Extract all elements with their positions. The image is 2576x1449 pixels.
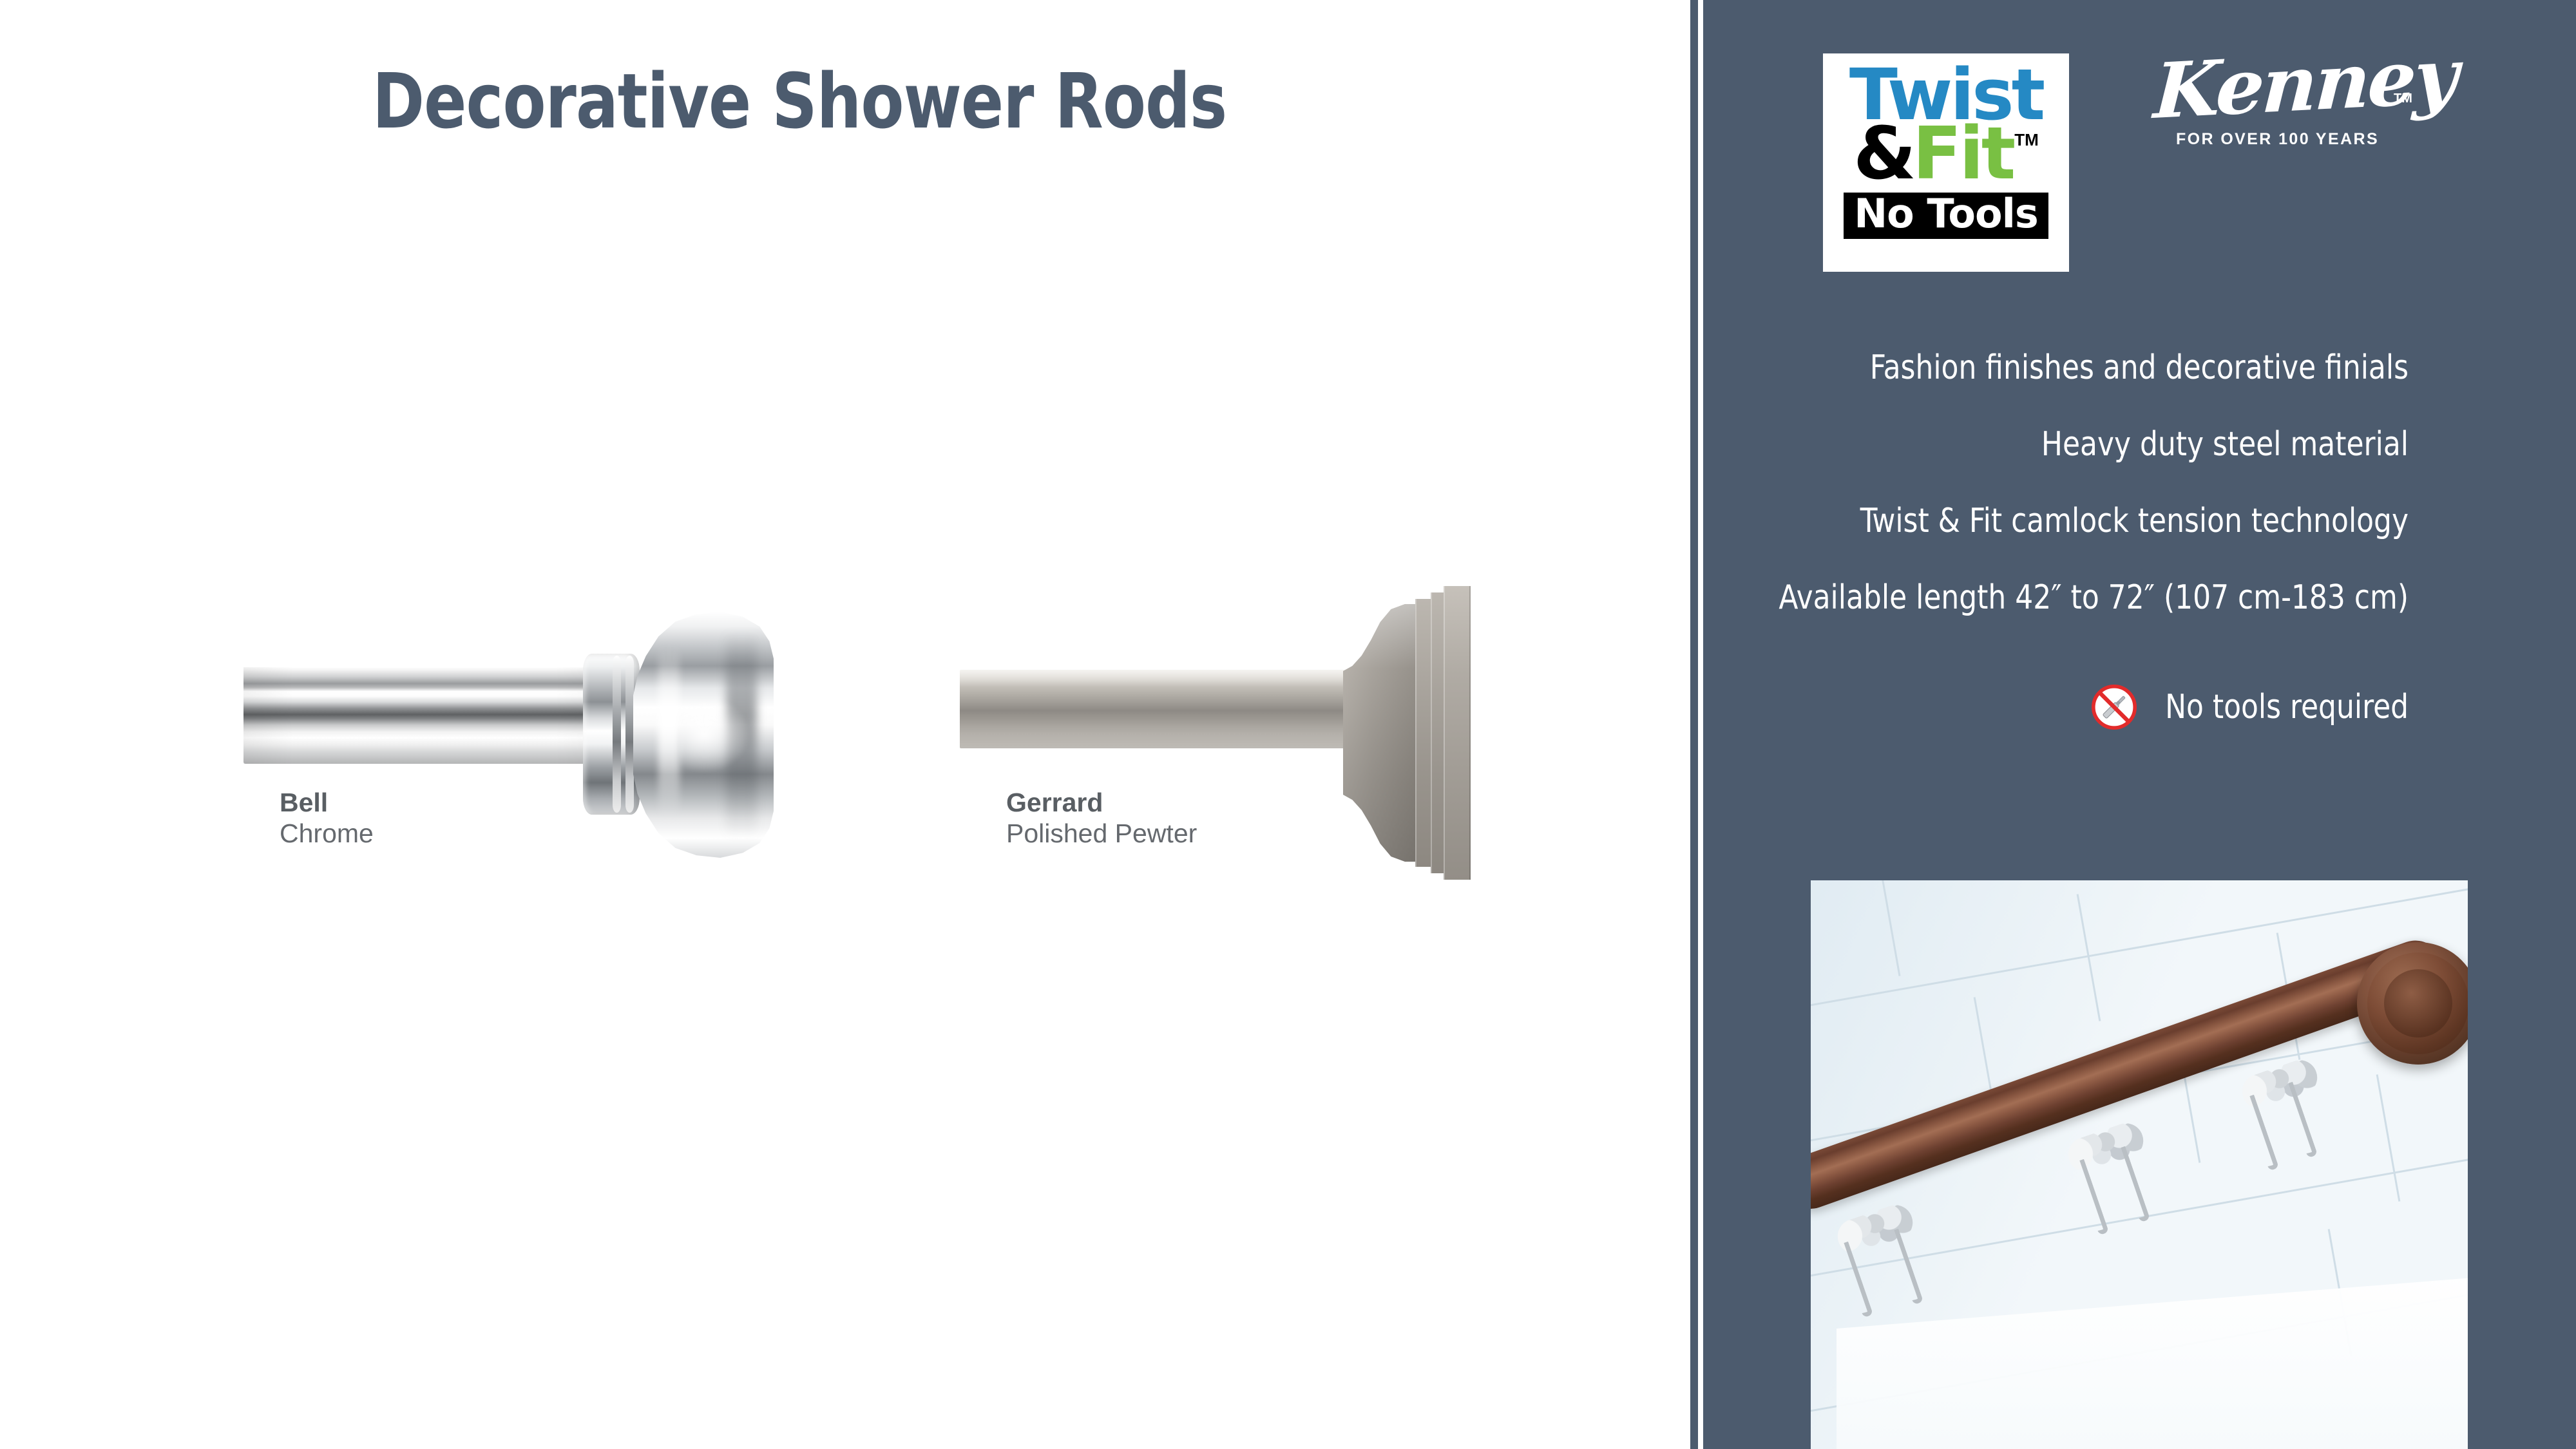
feature-item: Fashion finishes and decorative finials [1746,351,2409,384]
tile-grout-line [2376,1074,2401,1201]
twist-and-fit-logo: Twist & Fit TM No Tools [1823,53,2069,272]
gerrard-finial-icon [1343,604,1485,862]
vertical-divider-line [1690,0,1698,1449]
gerrard-rod-tube [960,670,1366,748]
kenney-tagline: FOR OVER 100 YEARS [2176,130,2379,149]
gerrard-finial-plate-2 [1431,592,1445,873]
fit-word: Fit [1913,121,2013,187]
bell-finial-icon [583,605,776,863]
tile-grout-line [1878,880,1901,976]
gerrard-label-group: Gerrard Polished Pewter [1006,787,1197,849]
bell-finial-highlight [680,702,750,773]
no-tools-badge: No Tools [1844,193,2048,239]
kenney-brand-script: Kenney [2151,31,2458,136]
product-finish-bell: Chrome [280,818,374,849]
no-tools-prohibition-icon [2092,685,2137,730]
no-tools-required-row: No tools required [1703,685,2492,730]
kenney-logo: Kenney TM FOR OVER 100 YEARS [2154,52,2425,161]
no-tools-required-label: No tools required [2165,688,2409,726]
bell-finial-ring-2 [625,656,634,813]
ampersand-glyph: & [1853,121,1913,187]
gerrard-finial-flare [1343,604,1420,862]
feature-panel: Twist & Fit TM No Tools Kenney TM FOR OV… [1703,0,2576,1449]
bell-rod-tube [243,667,604,764]
page-title: Decorative Shower Rods [372,57,1226,146]
feature-item: Available length 42″ to 72″ (107 cm-183 … [1746,581,2409,614]
gerrard-finial-plate-1 [1415,599,1432,867]
lifestyle-photo [1811,880,2468,1449]
trademark-symbol: TM [2014,130,2039,150]
kenney-trademark-symbol: TM [2394,91,2412,106]
bell-label-group: Bell Chrome [280,787,374,849]
bell-finial-ring-1 [613,656,621,813]
feature-item: Twist & Fit camlock tension technology [1746,504,2409,538]
gerrard-finial-plate-3 [1444,586,1471,880]
product-name-gerrard: Gerrard [1006,787,1197,818]
feature-list: Fashion finishes and decorative finials … [1703,351,2492,658]
product-marketing-page: Decorative Shower Rods Bell Chrome Gerra… [0,0,2576,1449]
twist-and-fit-line-2: & Fit TM [1853,121,2039,187]
product-name-bell: Bell [280,787,374,818]
feature-item: Heavy duty steel material [1746,428,2409,461]
product-finish-gerrard: Polished Pewter [1006,818,1197,849]
